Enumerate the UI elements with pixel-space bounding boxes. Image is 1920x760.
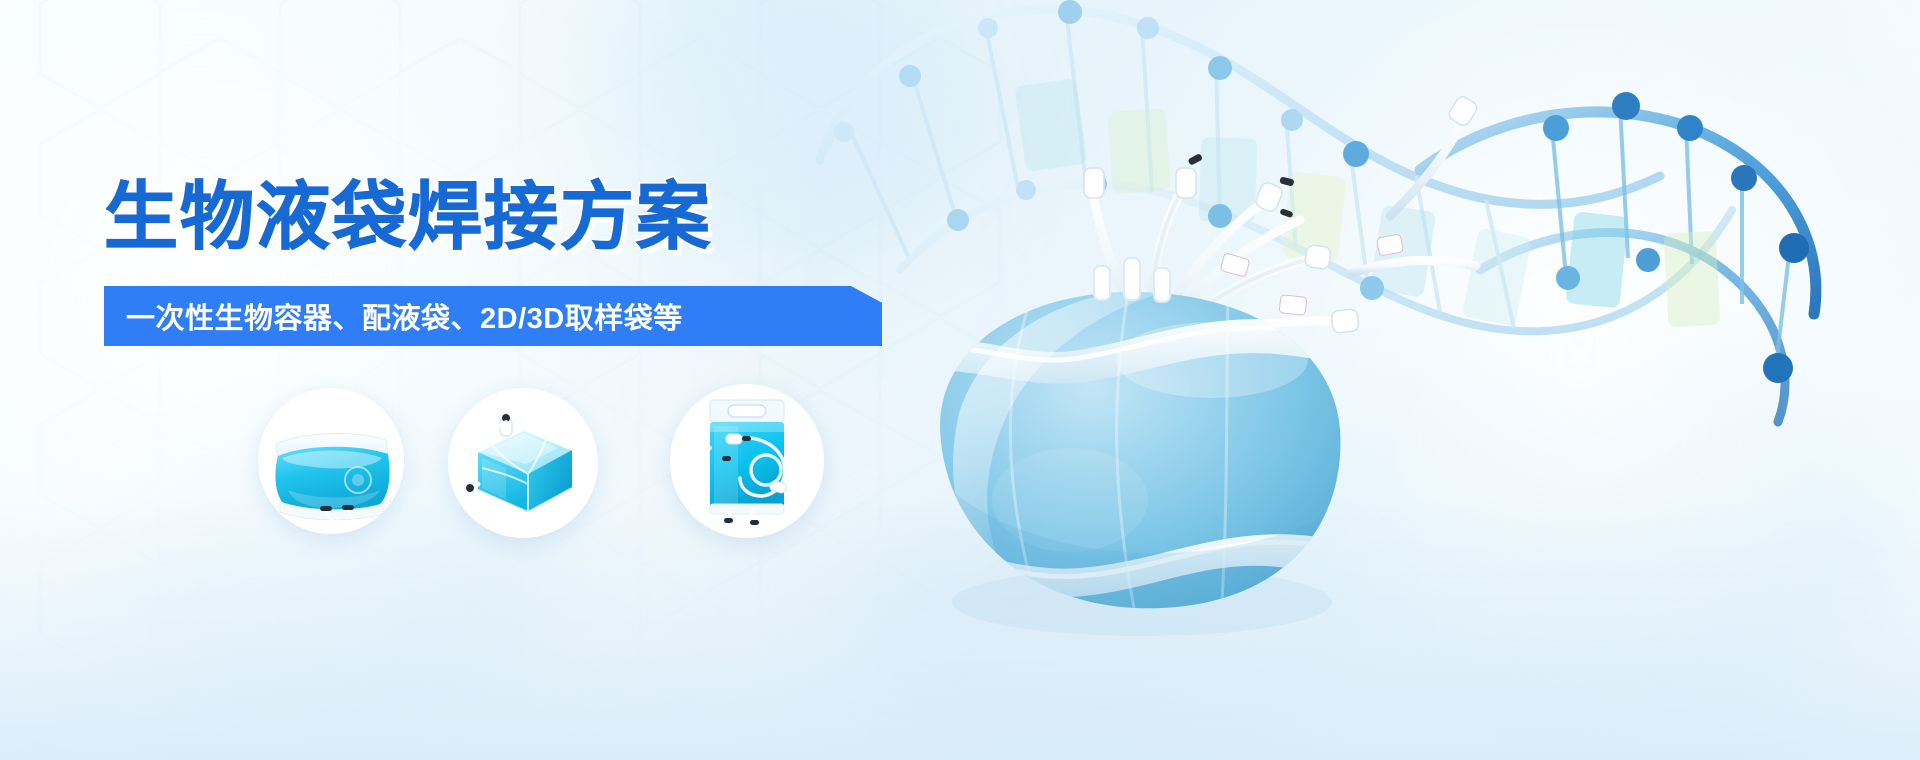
thumbnail-sampling-bag-with-tubing[interactable] <box>670 384 824 538</box>
page-title: 生物液袋焊接方案 <box>104 180 712 254</box>
thumbnail-pillow-bag-2d[interactable] <box>258 388 404 534</box>
large-bioreactor-bag <box>880 230 1440 650</box>
subtitle-text: 一次性生物容器、配液袋、2D/3D取样袋等 <box>104 295 683 337</box>
banner-stage: 生物液袋焊接方案 一次性生物容器、配液袋、2D/3D取样袋等 <box>0 0 1920 760</box>
subtitle-ribbon: 一次性生物容器、配液袋、2D/3D取样袋等 <box>104 286 882 346</box>
thumbnail-cube-bag-3d[interactable] <box>448 388 598 538</box>
